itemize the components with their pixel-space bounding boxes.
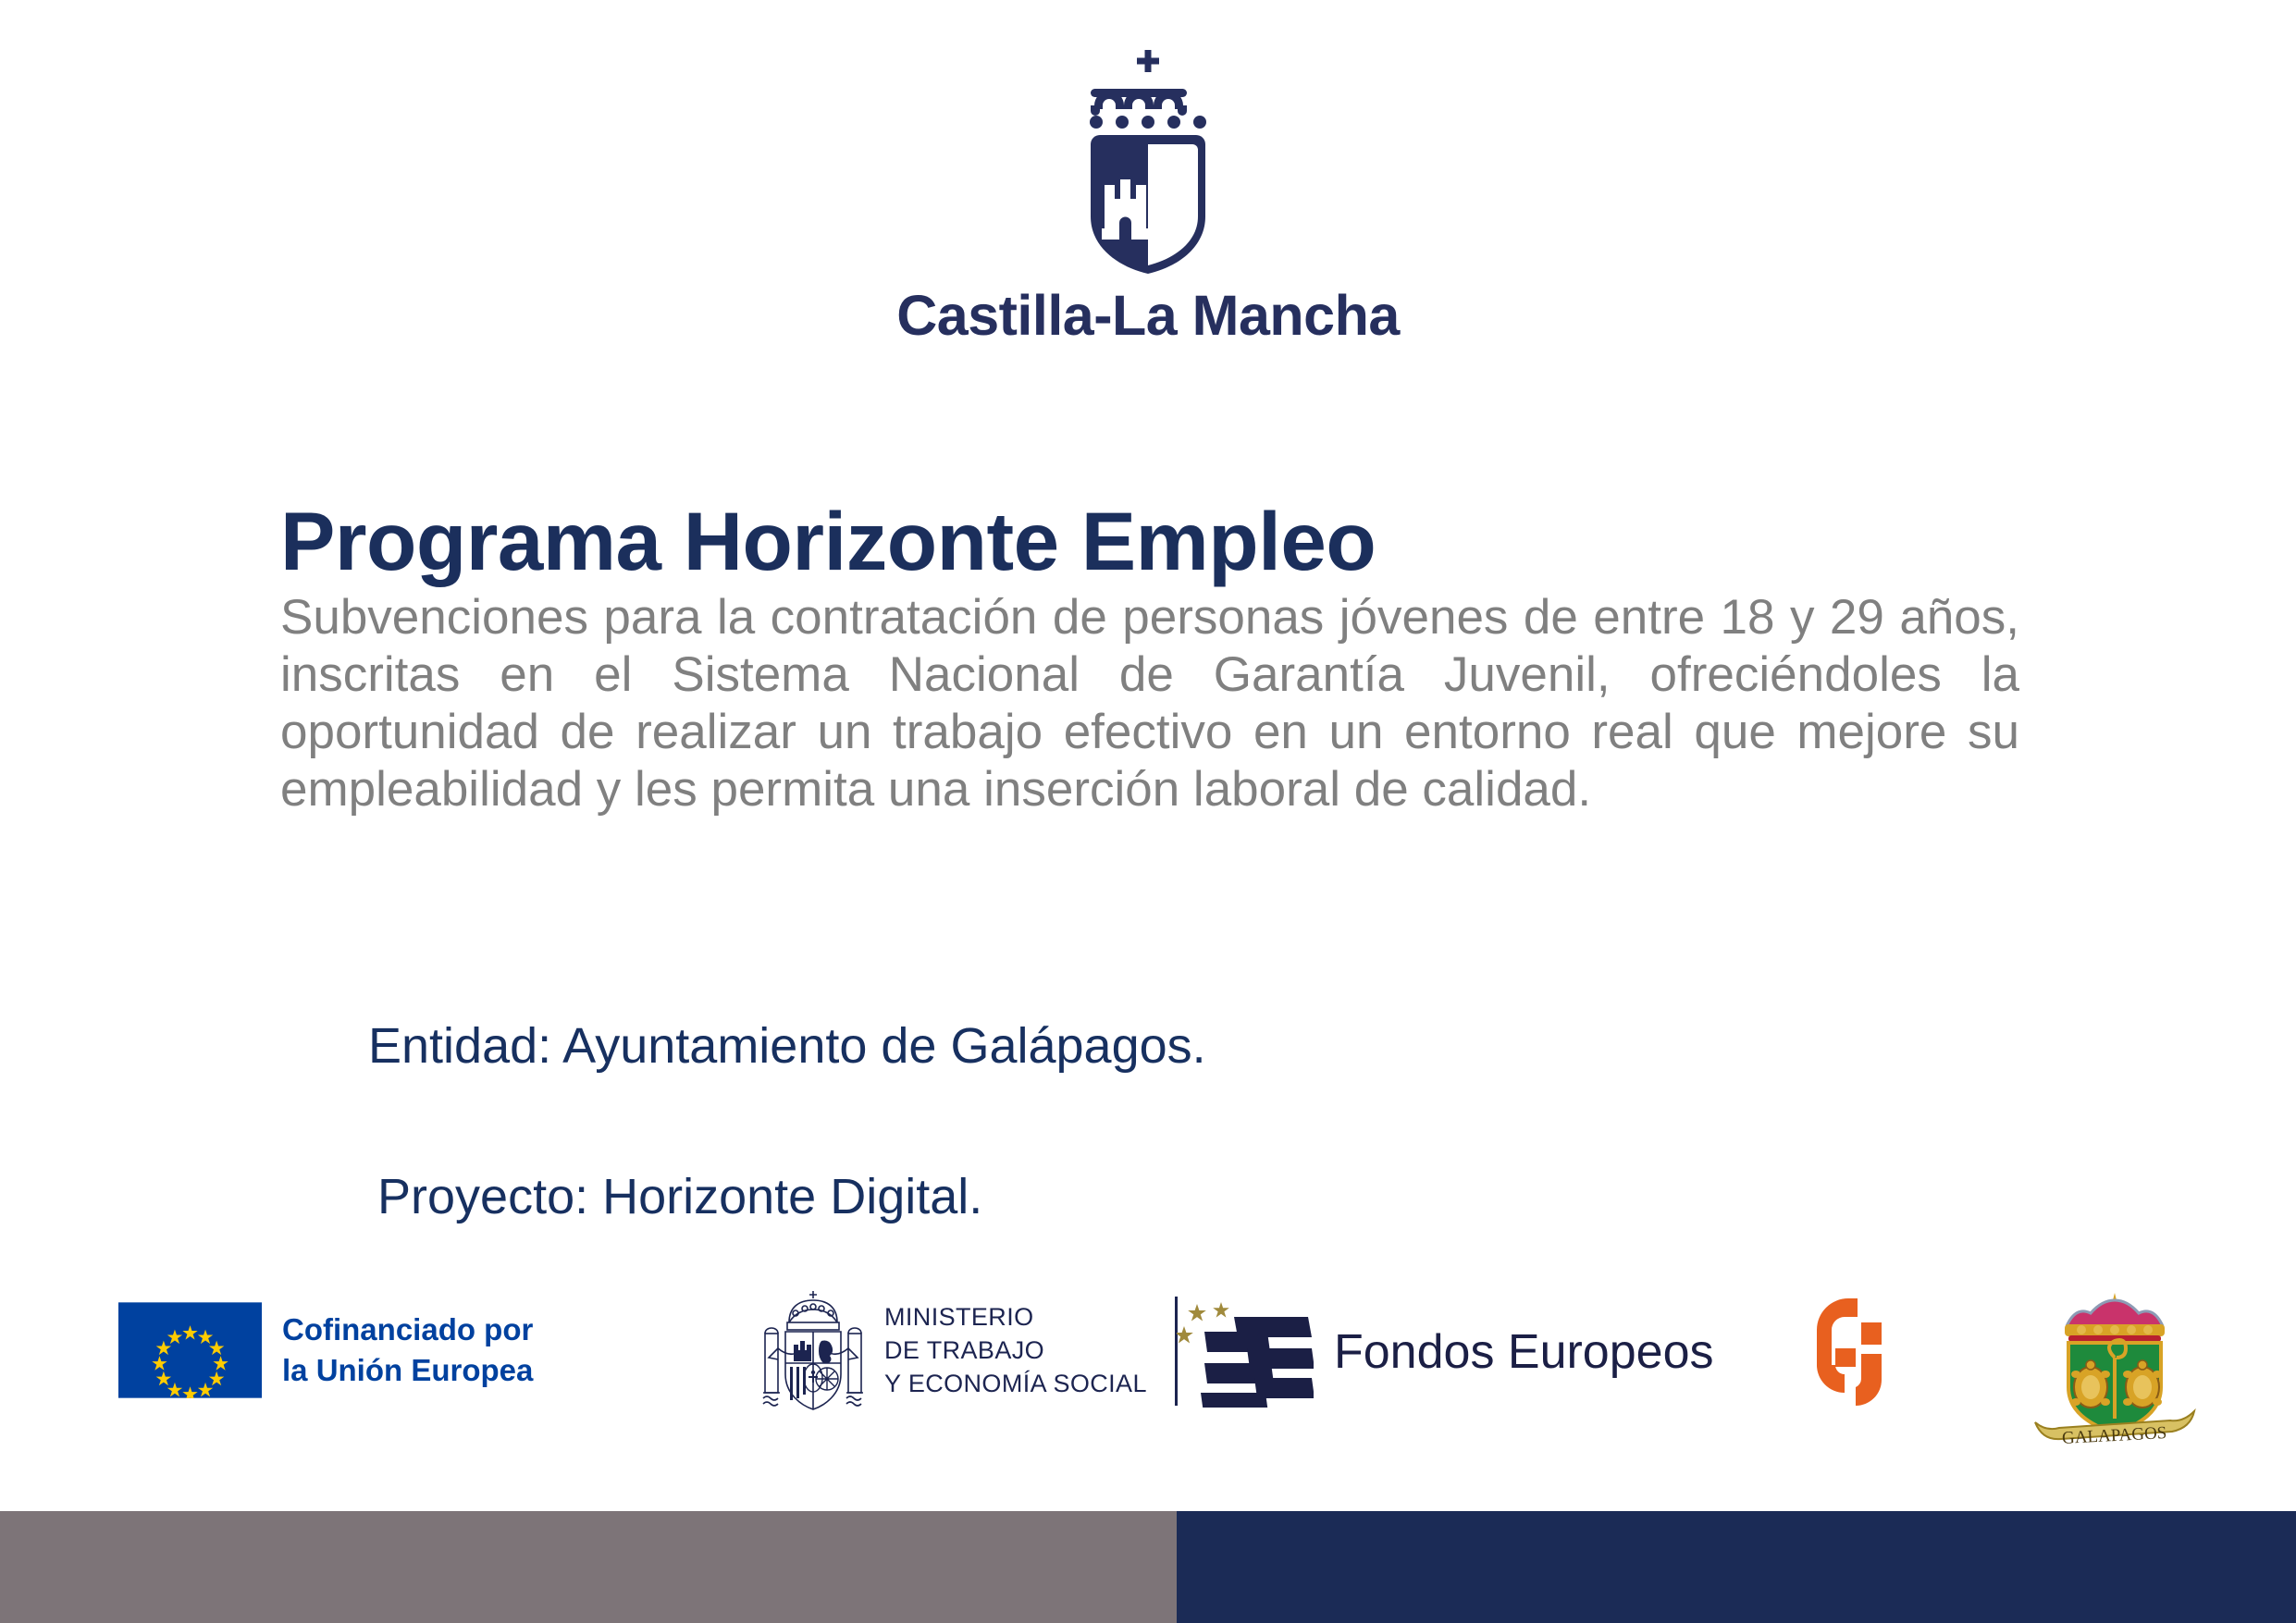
ministry-line-2: DE TRABAJO: [884, 1334, 1147, 1368]
eu-flag-icon: [118, 1302, 262, 1398]
bottom-bar-navy-segment: [1177, 1511, 2296, 1623]
galapagos-coat-of-arms-logo: GALAPAGOS: [2031, 1284, 2198, 1450]
ministry-logo: MINISTERIO DE TRABAJO Y ECONOMÍA SOCIAL: [757, 1287, 1178, 1415]
spain-coat-of-arms-icon: [757, 1287, 870, 1415]
fondos-europeos-label: Fondos Europeos: [1334, 1324, 1714, 1380]
castilla-la-mancha-logo: Castilla-La Mancha: [0, 48, 2296, 348]
eu-text-line-2: la Unión Europea: [282, 1350, 533, 1391]
gj-monogram-logo: [1804, 1297, 1889, 1406]
eu-text-line-1: Cofinanciado por: [282, 1309, 533, 1350]
page-title: Programa Horizonte Empleo: [280, 499, 2019, 584]
ministry-line-3: Y ECONOMÍA SOCIAL: [884, 1368, 1147, 1401]
ministry-line-1: MINISTERIO: [884, 1301, 1147, 1334]
castilla-la-mancha-shield-icon: [1080, 48, 1216, 279]
bottom-bar-gray-segment: [0, 1511, 1177, 1623]
ministry-text: MINISTERIO DE TRABAJO Y ECONOMÍA SOCIAL: [884, 1301, 1147, 1401]
fondos-europeos-logo: Fondos Europeos: [1177, 1297, 1714, 1408]
lead-paragraph: Subvenciones para la contratación de per…: [280, 589, 2019, 818]
eu-cofinanced-text: Cofinanciado por la Unión Europea: [282, 1309, 533, 1390]
project-line: Proyecto: Horizonte Digital.: [377, 1168, 982, 1225]
galapagos-coat-of-arms-icon: GALAPAGOS: [2031, 1284, 2198, 1450]
gj-monogram-icon: [1804, 1297, 1889, 1406]
fondos-europeos-stepped-bars-icon: [1177, 1297, 1314, 1408]
footer-logo-strip: Cofinanciado por la Unión Europea: [0, 1276, 2296, 1466]
bottom-bar: [0, 1511, 2296, 1623]
eu-cofinanced-logo: Cofinanciado por la Unión Europea: [118, 1302, 533, 1398]
castilla-la-mancha-wordmark: Castilla-La Mancha: [896, 283, 1400, 348]
main-content: Programa Horizonte Empleo Subvenciones p…: [280, 499, 2019, 818]
entity-line: Entidad: Ayuntamiento de Galápagos.: [368, 1017, 1206, 1075]
